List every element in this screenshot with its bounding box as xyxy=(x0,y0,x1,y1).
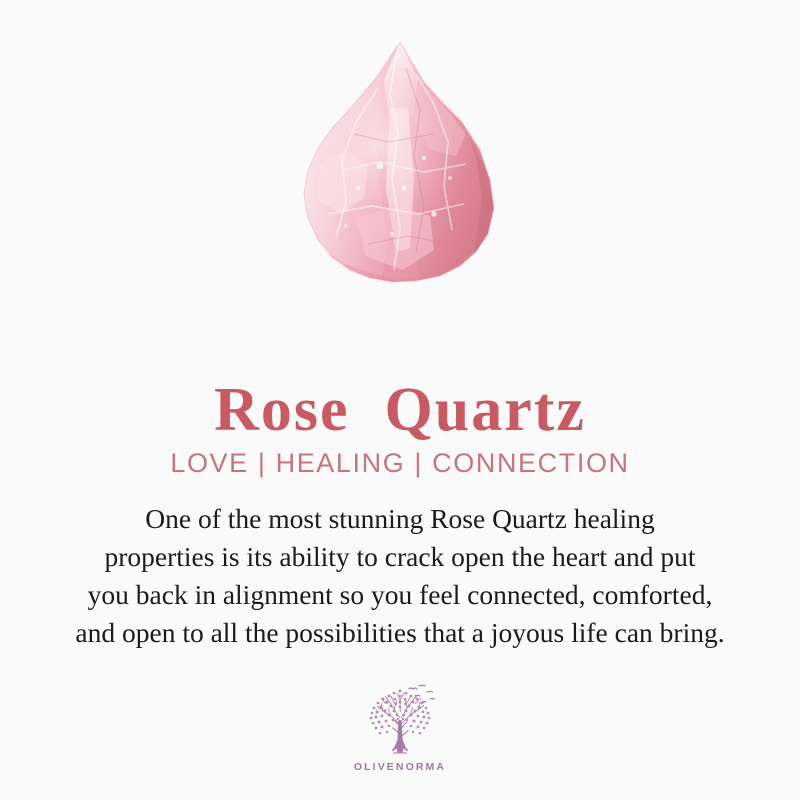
tree-icon xyxy=(361,684,439,758)
description-line: and open to all the possibilities that a… xyxy=(30,614,770,652)
birds-icon xyxy=(409,685,434,702)
description-line: One of the most stunning Rose Quartz hea… xyxy=(30,500,770,538)
keyword-subtitle: LOVE | HEALING | CONNECTION xyxy=(0,446,800,480)
description-line: you back in alignment so you feel connec… xyxy=(30,576,770,614)
description-line: properties is its ability to crack open … xyxy=(30,538,770,576)
brand-wordmark: OLIVENORMA xyxy=(354,761,446,773)
rose-quartz-crystal-image xyxy=(284,38,516,286)
description-text: One of the most stunning Rose Quartz hea… xyxy=(30,500,770,652)
page-title: Rose Quartz xyxy=(0,378,800,442)
brand-logo: OLIVENORMA xyxy=(0,684,800,773)
crystal-body xyxy=(284,38,516,286)
rose-quartz-product-card: Rose Quartz LOVE | HEALING | CONNECTION … xyxy=(0,0,800,800)
hero-image-container xyxy=(0,34,800,290)
